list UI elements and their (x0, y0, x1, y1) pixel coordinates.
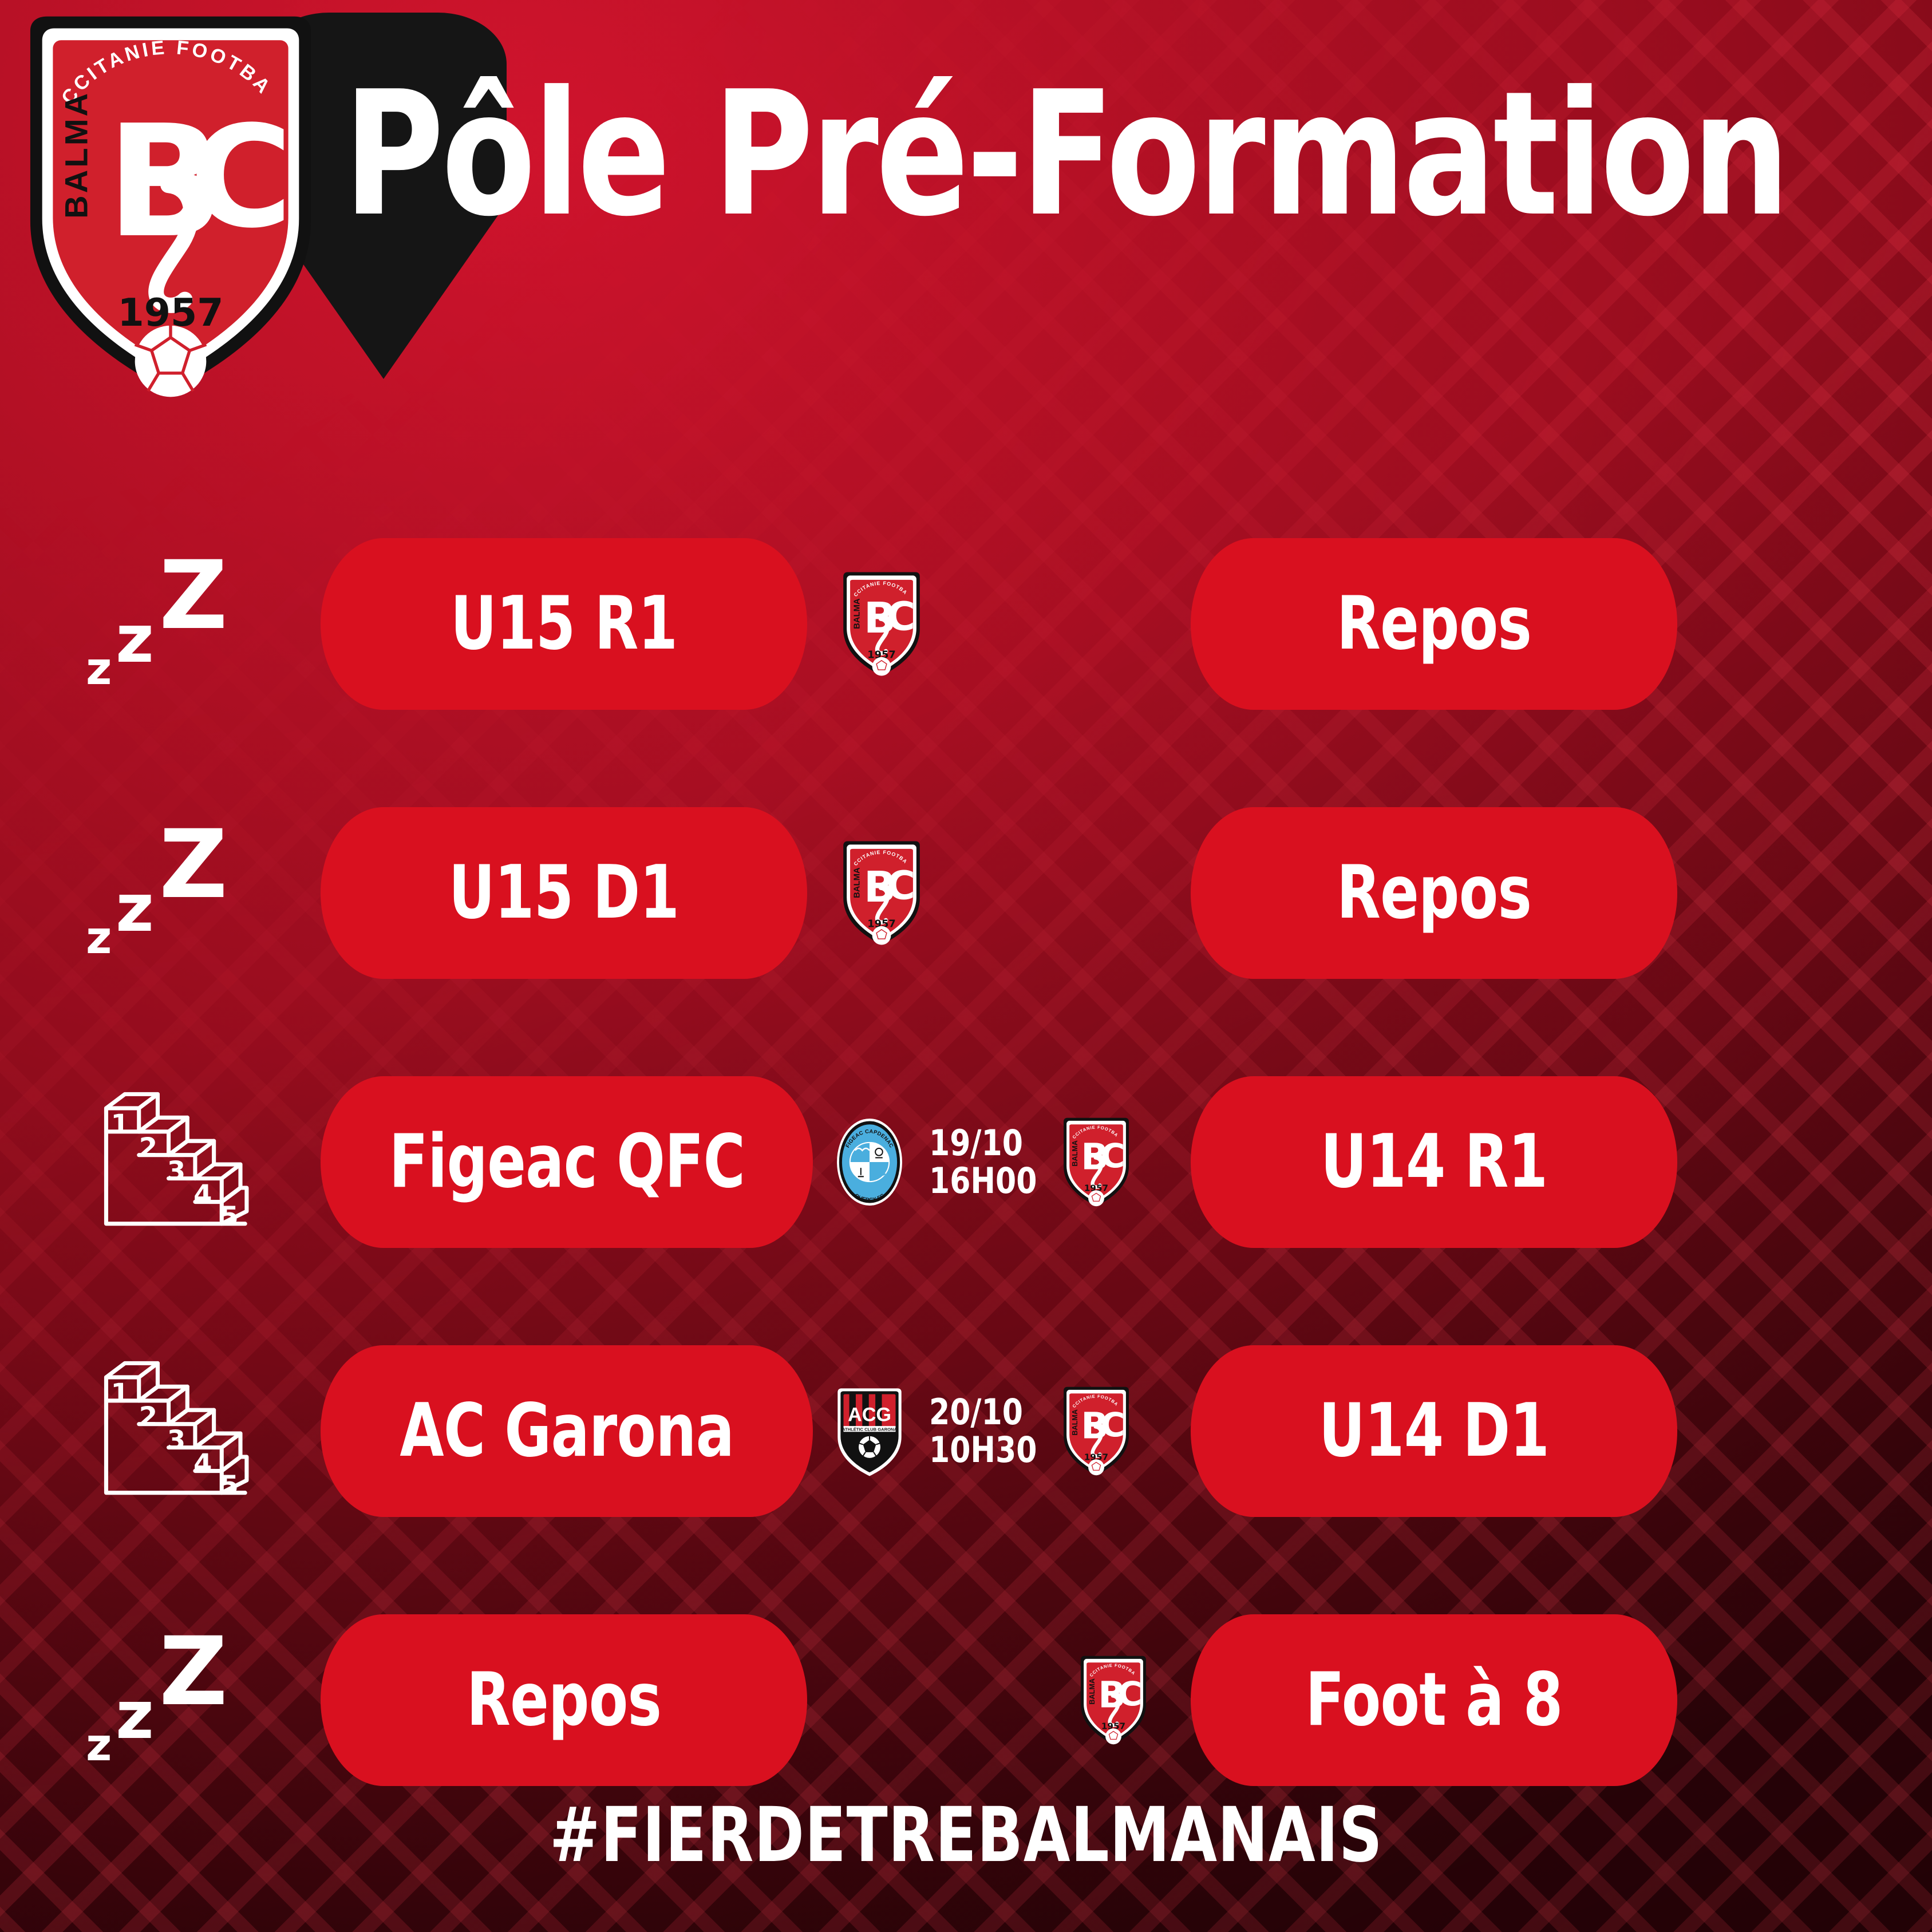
right-team-label: Repos (1337, 587, 1531, 661)
stairs-number-3: 3 (167, 1155, 185, 1186)
right-team-pill[interactable]: Repos (1191, 807, 1677, 979)
page-title: Pôle Pré-Formation (343, 69, 1787, 240)
middle-cell: OCCITANIE FOOTBALL BALMA B C 1957 (830, 807, 933, 979)
right-team-pill[interactable]: Foot à 8 (1191, 1614, 1677, 1786)
sleep-z-large: Z (159, 817, 228, 912)
sleep-zzz-icon: z z Z (86, 813, 258, 973)
sleep-z-medium: z (116, 1683, 154, 1749)
left-team-label: U15 D1 (449, 856, 679, 930)
acg-initials: ACG (848, 1404, 891, 1425)
svg-text:BALMA: BALMA (852, 598, 862, 629)
stairs-number-1: 1 (111, 1109, 129, 1140)
middle-cell: ACG ATHLÉTIC CLUB GARONA 20/10 10H30 (833, 1345, 1182, 1517)
left-team-label: Figeac QFC (389, 1125, 744, 1199)
left-team-pill[interactable]: U15 D1 (321, 807, 807, 979)
schedule-row: z z Z U15 R1 OCCITANIE FOOTBALL BALMA (0, 538, 1932, 807)
left-team-pill[interactable]: AC Garona (321, 1345, 813, 1517)
bsc-badge: OCCITANIE FOOTBALL BALMA B C 1957 (839, 839, 924, 947)
left-team-pill[interactable]: Figeac QFC (321, 1076, 813, 1248)
svg-text:BALMA: BALMA (1072, 1409, 1080, 1436)
bsc-badge: OCCITANIE FOOTBALL BALMA B C 1957 (1060, 1116, 1133, 1208)
status-icon-cell: 1 2 3 4 5 (74, 1345, 269, 1517)
stairs-number-4: 4 (193, 1179, 212, 1210)
crest-monogram-c: C (189, 96, 293, 259)
stairs-number-4: 4 (193, 1448, 212, 1479)
stairs-ranking-icon: 1 2 3 4 5 (86, 1079, 258, 1245)
figeac-capdenac-quercy-fc-badge: FIGEAC CAPDENAC QUERCY FC (833, 1116, 906, 1208)
bsc-badge: OCCITANIE FOOTBALL BALMA B C 1957 (1077, 1654, 1150, 1747)
svg-text:C: C (1118, 1674, 1143, 1713)
sleep-z-large: Z (159, 548, 228, 643)
left-team-label: Repos (467, 1664, 661, 1737)
sleep-z-medium: z (116, 876, 154, 942)
status-icon-cell: z z Z (74, 538, 269, 710)
stairs-number-3: 3 (167, 1424, 185, 1455)
right-team-label: U14 R1 (1321, 1125, 1547, 1199)
sleep-z-small: z (86, 916, 112, 961)
svg-text:BALMA: BALMA (1072, 1140, 1080, 1167)
match-date: 20/10 (929, 1393, 1037, 1431)
svg-text:BALMA: BALMA (852, 867, 862, 898)
crest-side-text: BALMA (58, 91, 94, 219)
right-team-pill[interactable]: U14 R1 (1191, 1076, 1677, 1248)
bsc-badge: OCCITANIE FOOTBALL BALMA B C 1957 (1060, 1385, 1133, 1477)
left-team-label: U15 R1 (451, 587, 677, 661)
stairs-number-5: 5 (220, 1469, 239, 1500)
sleep-z-small: z (86, 647, 112, 692)
status-icon-cell: 1 2 3 4 5 (74, 1076, 269, 1248)
svg-text:C: C (1101, 1136, 1125, 1175)
left-team-pill[interactable]: Repos (321, 1614, 807, 1786)
status-icon-cell: z z Z (74, 1614, 269, 1786)
sleep-z-large: Z (159, 1625, 228, 1719)
match-datetime: 19/10 16H00 (929, 1124, 1037, 1199)
left-team-pill[interactable]: U15 R1 (321, 538, 807, 710)
header: OCCITANIE FOOTBALL BALMA B C 1957 Pôle P… (0, 0, 1932, 435)
status-icon-cell: z z Z (74, 807, 269, 979)
right-team-pill[interactable]: U14 D1 (1191, 1345, 1677, 1517)
right-team-pill[interactable]: Repos (1191, 538, 1677, 710)
footer: #FIERDETREBALMANAIS (0, 1791, 1932, 1879)
schedule-row: 1 2 3 4 5 Figeac QFC (0, 1076, 1932, 1345)
match-time: 10H30 (929, 1431, 1037, 1469)
svg-text:BALMA: BALMA (1088, 1678, 1096, 1705)
left-team-label: AC Garona (400, 1394, 734, 1468)
schedule-row: 1 2 3 4 5 AC Garona (0, 1345, 1932, 1614)
svg-text:C: C (1101, 1405, 1125, 1444)
schedule-row: z z Z U15 D1 OCCITANIE FOOTBALL BALMA (0, 807, 1932, 1076)
match-date: 19/10 (929, 1124, 1037, 1162)
middle-cell: FIGEAC CAPDENAC QUERCY FC 19/10 16H00 (833, 1076, 1182, 1248)
sleep-zzz-icon: z z Z (86, 1620, 258, 1780)
sleep-z-medium: z (116, 607, 154, 673)
stairs-number-2: 2 (139, 1401, 157, 1432)
stairs-ranking-icon: 1 2 3 4 5 (86, 1348, 258, 1514)
stairs-number-2: 2 (139, 1132, 157, 1163)
schedule-list: z z Z U15 R1 OCCITANIE FOOTBALL BALMA (0, 538, 1932, 1883)
right-team-label: Repos (1337, 856, 1531, 930)
poster-root: OCCITANIE FOOTBALL BALMA B C 1957 Pôle P… (0, 0, 1932, 1932)
right-team-label: U14 D1 (1319, 1394, 1549, 1468)
svg-text:C: C (887, 594, 915, 639)
bsc-badge: OCCITANIE FOOTBALL BALMA B C 1957 (839, 570, 924, 678)
club-crest-logo: OCCITANIE FOOTBALL BALMA B C 1957 (16, 8, 325, 403)
ac-garona-badge: ACG ATHLÉTIC CLUB GARONA (833, 1385, 906, 1477)
sleep-zzz-icon: z z Z (86, 544, 258, 704)
acg-full-name: ATHLÉTIC CLUB GARONA (842, 1427, 897, 1432)
match-time: 16H00 (929, 1162, 1037, 1200)
stairs-number-5: 5 (220, 1200, 239, 1231)
middle-cell: OCCITANIE FOOTBALL BALMA B C 1957 (830, 538, 933, 710)
match-datetime: 20/10 10H30 (929, 1393, 1037, 1468)
right-team-label: Foot à 8 (1305, 1664, 1562, 1737)
sleep-z-small: z (86, 1723, 112, 1768)
hashtag-text: #FIERDETREBALMANAIS (550, 1791, 1383, 1879)
middle-cell: OCCITANIE FOOTBALL BALMA B C 1957 (1056, 1614, 1171, 1786)
svg-text:C: C (887, 863, 915, 908)
stairs-number-1: 1 (111, 1378, 129, 1409)
